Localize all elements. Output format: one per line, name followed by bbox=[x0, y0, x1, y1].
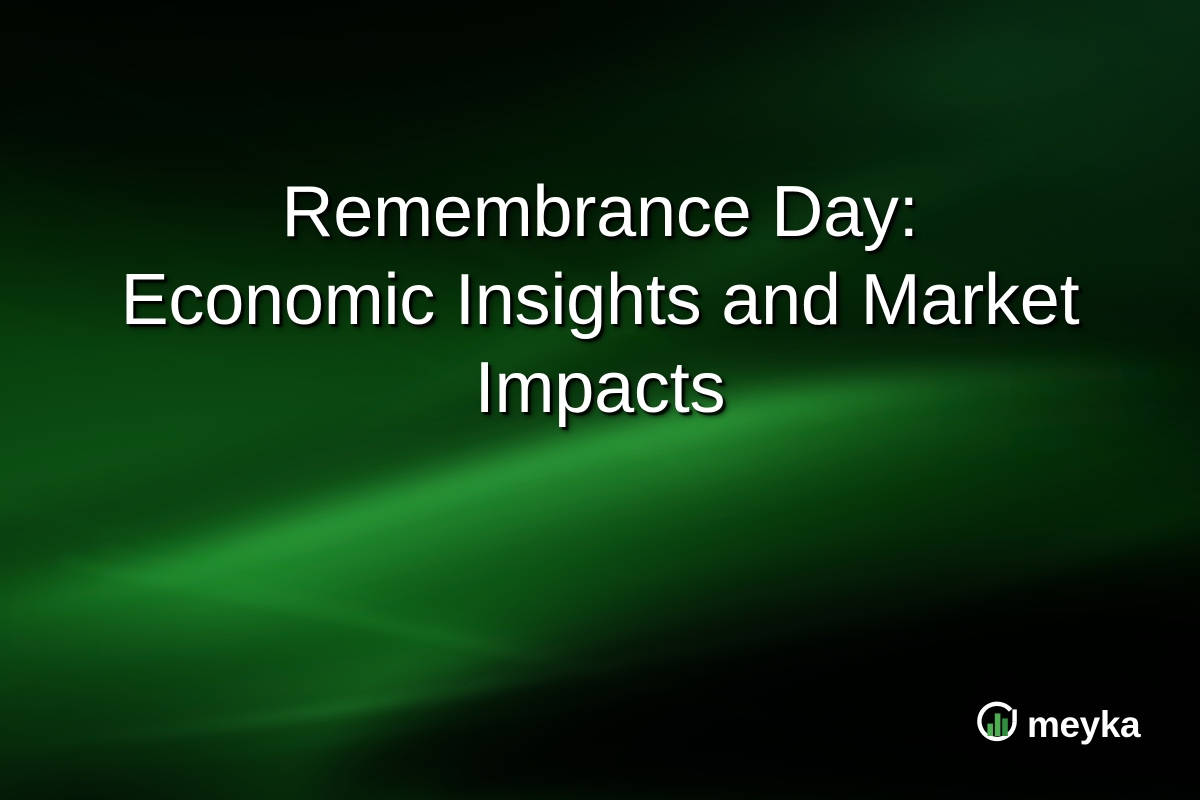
title-line-2: Economic Insights and Market bbox=[0, 256, 1200, 344]
slide-canvas: Remembrance Day: Economic Insights and M… bbox=[0, 0, 1200, 800]
meyka-wordmark: meyka bbox=[1027, 706, 1140, 743]
meyka-logo[interactable]: meyka bbox=[972, 698, 1140, 748]
title-line-3: Impacts bbox=[0, 344, 1200, 432]
title-line-1: Remembrance Day: bbox=[0, 168, 1200, 256]
slide-title: Remembrance Day: Economic Insights and M… bbox=[0, 168, 1200, 432]
meyka-bar-chart-ring-logo-icon bbox=[972, 698, 1022, 748]
